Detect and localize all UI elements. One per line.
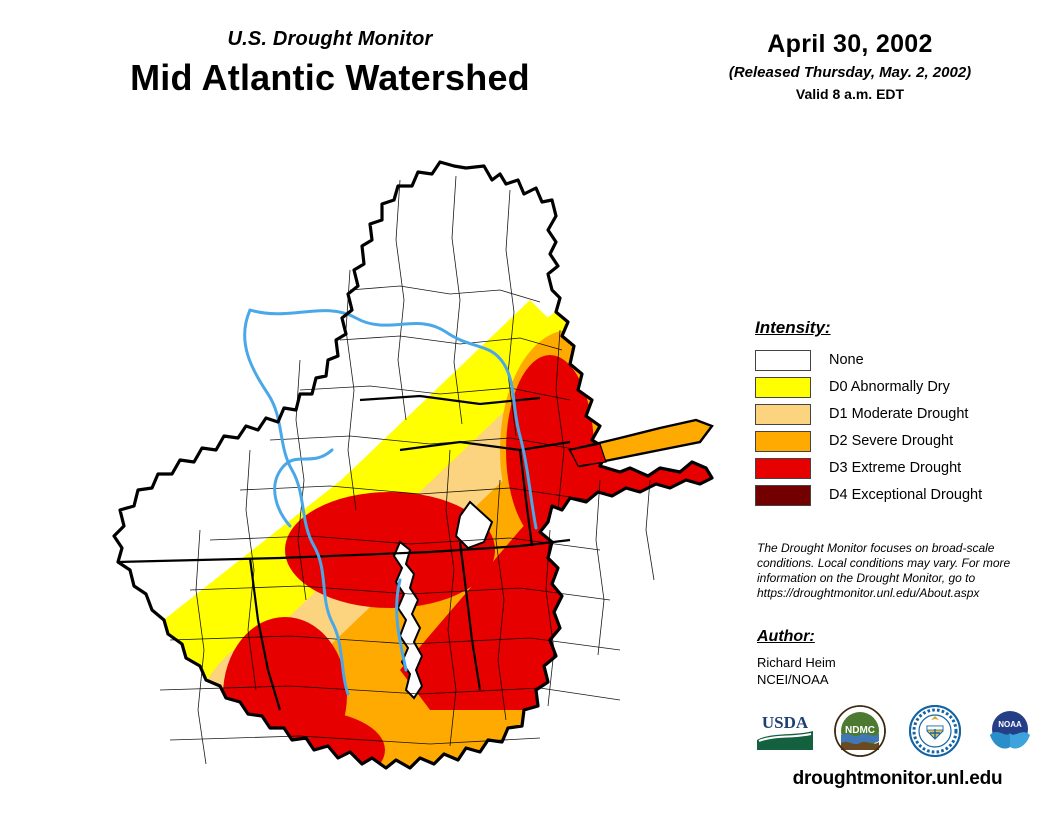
- legend-rows: NoneD0 Abnormally DryD1 Moderate Drought…: [755, 347, 1035, 508]
- release-date: (Released Thursday, May. 2, 2002): [660, 64, 1040, 81]
- legend-heading: Intensity:: [755, 318, 1035, 338]
- legend-label: D2 Severe Drought: [829, 433, 953, 449]
- author-block: Author: Richard Heim NCEI/NOAA: [757, 628, 1025, 688]
- svg-text:NDMC: NDMC: [845, 725, 875, 736]
- usda-logo-svg: USDA: [755, 710, 815, 752]
- noaa-logo: NOAA: [980, 703, 1040, 758]
- legend: Intensity: NoneD0 Abnormally DryD1 Moder…: [755, 318, 1035, 509]
- site-url: droughtmonitor.unl.edu: [755, 768, 1040, 790]
- legend-swatch: [755, 485, 811, 506]
- legend-item-d3: D3 Extreme Drought: [755, 455, 1035, 481]
- author-heading: Author:: [757, 628, 1025, 646]
- usdc-seal: [905, 703, 965, 758]
- program-subtitle: U.S. Drought Monitor: [0, 28, 660, 51]
- legend-label: None: [829, 352, 864, 368]
- header-right: April 30, 2002 (Released Thursday, May. …: [660, 30, 1040, 102]
- noaa-logo-svg: NOAA: [984, 705, 1036, 757]
- legend-swatch: [755, 458, 811, 479]
- disclaimer-text: The Drought Monitor focuses on broad-sca…: [757, 541, 1025, 601]
- legend-label: D4 Exceptional Drought: [829, 487, 982, 503]
- drought-map-svg: [100, 150, 720, 780]
- legend-item-d1: D1 Moderate Drought: [755, 401, 1035, 427]
- legend-label: D3 Extreme Drought: [829, 460, 961, 476]
- legend-item-d2: D2 Severe Drought: [755, 428, 1035, 454]
- drought-map: [100, 150, 720, 780]
- ndmc-logo: NDMC: [830, 703, 890, 758]
- ndmc-logo-svg: NDMC: [834, 705, 886, 757]
- svg-text:USDA: USDA: [762, 713, 809, 732]
- drought-band-d3-va: [223, 617, 347, 773]
- legend-item-d0: D0 Abnormally Dry: [755, 374, 1035, 400]
- legend-label: D1 Moderate Drought: [829, 406, 968, 422]
- author-name: Richard Heim: [757, 654, 1025, 671]
- agency-logos: USDA NDMC N: [755, 703, 1040, 758]
- legend-item-none: None: [755, 347, 1035, 373]
- header-left: U.S. Drought Monitor Mid Atlantic Waters…: [0, 28, 660, 99]
- legend-swatch: [755, 377, 811, 398]
- valid-time: Valid 8 a.m. EDT: [660, 86, 1040, 102]
- author-affiliation: NCEI/NOAA: [757, 671, 1025, 688]
- page-title: Mid Atlantic Watershed: [0, 57, 660, 99]
- issue-date: April 30, 2002: [660, 30, 1040, 59]
- legend-swatch: [755, 404, 811, 425]
- usdc-seal-svg: [909, 705, 961, 757]
- svg-text:NOAA: NOAA: [998, 720, 1022, 729]
- legend-item-d4: D4 Exceptional Drought: [755, 482, 1035, 508]
- usda-logo: USDA: [755, 703, 815, 758]
- legend-label: D0 Abnormally Dry: [829, 379, 950, 395]
- legend-swatch: [755, 350, 811, 371]
- legend-swatch: [755, 431, 811, 452]
